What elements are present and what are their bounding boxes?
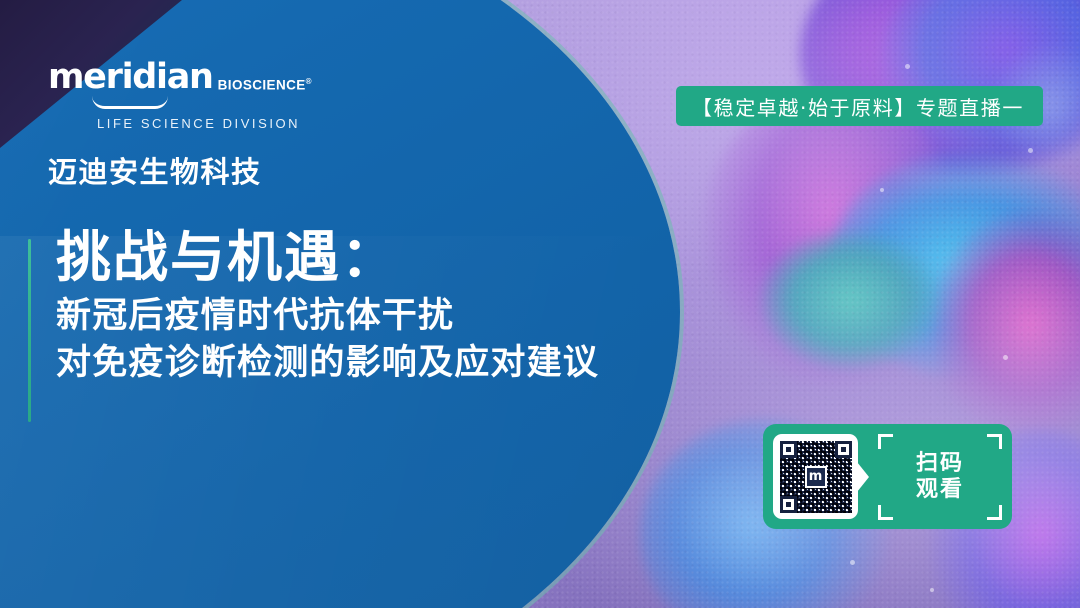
scan-line-1: 扫码 <box>916 451 964 477</box>
particle-dot <box>930 588 934 592</box>
qr-scan-card[interactable]: m 扫码 观看 <box>763 424 1012 529</box>
division-label: LIFE SCIENCE DIVISION <box>97 116 348 131</box>
subtitle-line-1: 新冠后疫情时代抗体干扰 <box>56 293 716 340</box>
particle-dot <box>880 188 884 192</box>
topic-ribbon-badge: 【稳定卓越·始于原料】专题直播一 <box>676 86 1043 126</box>
scan-frame-corner-icon <box>987 434 1002 449</box>
qr-finder-icon <box>780 496 797 513</box>
particle-dot <box>1003 355 1008 360</box>
scan-prompt-text: 扫码 观看 <box>916 451 964 502</box>
qr-matrix: m <box>780 441 852 513</box>
scan-frame-corner-icon <box>878 505 893 520</box>
arrow-right-nub-icon <box>857 462 869 492</box>
qr-code-icon[interactable]: m <box>773 434 858 519</box>
wordmark-row: meridian BIOSCIENCE® <box>48 60 348 95</box>
wordmark-bioscience: BIOSCIENCE® <box>218 78 312 95</box>
promo-banner: meridian BIOSCIENCE® LIFE SCIENCE DIVISI… <box>0 0 1080 608</box>
subtitle-line-2: 对免疫诊断检测的影响及应对建议 <box>56 340 716 387</box>
page-title: 挑战与机遇： <box>56 228 716 287</box>
particle-dot <box>850 560 855 565</box>
qr-center-logo: m <box>805 466 827 488</box>
particle-dot <box>1028 148 1033 153</box>
registered-mark: ® <box>306 77 312 86</box>
scan-prompt: 扫码 观看 <box>878 434 1002 520</box>
accent-line <box>28 239 31 422</box>
company-name-cn: 迈迪安生物科技 <box>48 149 348 191</box>
qr-finder-icon <box>780 441 797 458</box>
particle-dot <box>905 64 910 69</box>
scan-frame-corner-icon <box>878 434 893 449</box>
qr-finder-icon <box>835 441 852 458</box>
smile-swoosh-icon <box>92 96 168 109</box>
scan-frame-corner-icon <box>987 505 1002 520</box>
brand-logo: meridian BIOSCIENCE® LIFE SCIENCE DIVISI… <box>48 60 348 191</box>
scan-line-2: 观看 <box>916 477 964 503</box>
wordmark-meridian: meridian <box>48 60 213 95</box>
headline-block: 挑战与机遇： 新冠后疫情时代抗体干扰 对免疫诊断检测的影响及应对建议 <box>56 228 716 387</box>
bioscience-text: BIOSCIENCE <box>218 78 306 93</box>
